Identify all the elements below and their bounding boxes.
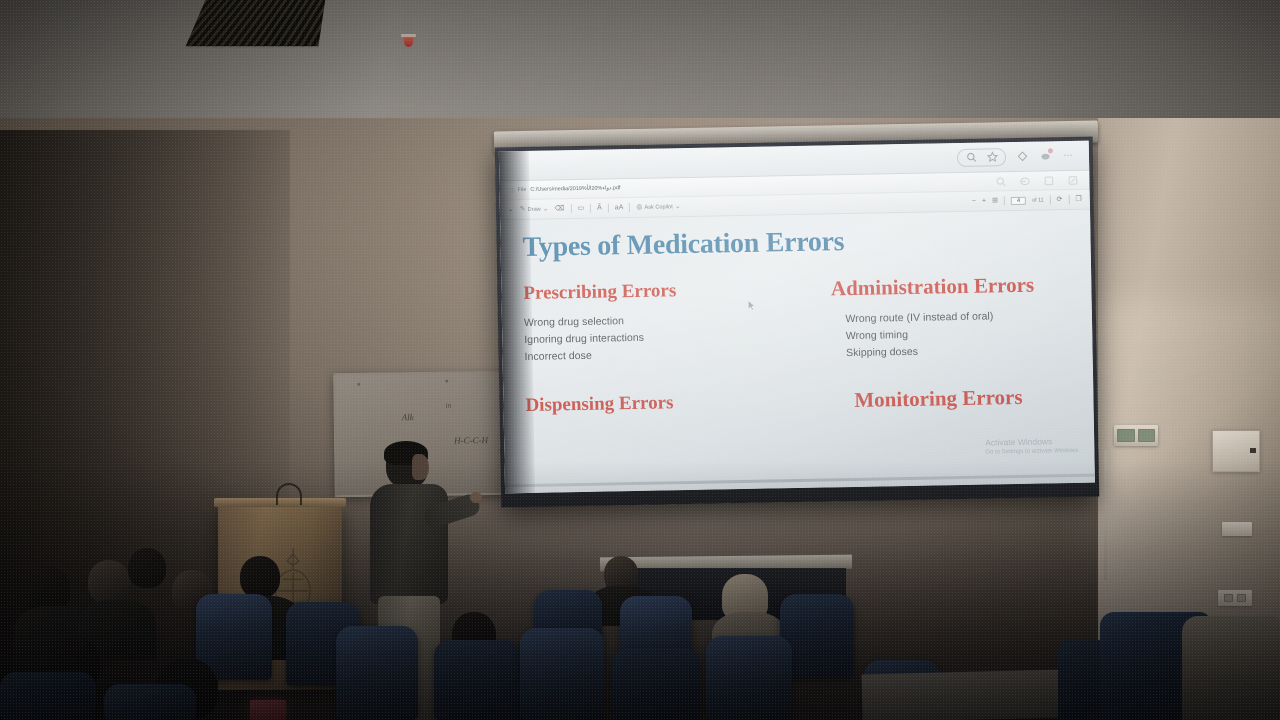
- more-options-icon[interactable]: ⋯: [1061, 148, 1075, 162]
- toolbar-divider-5: [1004, 196, 1005, 205]
- toolbar-divider-3: [608, 203, 609, 212]
- slide-top-columns: Prescribing Errors Wrong drug selection …: [523, 274, 1074, 368]
- favorite-star-icon[interactable]: [985, 150, 999, 164]
- draw-tool-label: Draw: [528, 206, 541, 212]
- rotate-icon[interactable]: ⟳: [1057, 196, 1063, 203]
- seat: [706, 636, 792, 720]
- address-url-text[interactable]: C:/Users/media/2019%دوﺍء%20الأ.pdf: [530, 185, 620, 193]
- administration-errors-list: Wrong route (IV instead of oral) Wrong t…: [831, 307, 1074, 362]
- outlet-socket-right: [1237, 594, 1246, 602]
- foreground-desk: [861, 670, 1062, 720]
- administration-errors-heading: Administration Errors: [831, 274, 1074, 299]
- power-outlet-plate: [1218, 590, 1252, 606]
- page-view-tool-icon[interactable]: ▭: [577, 205, 584, 212]
- annotate-icon[interactable]: [1065, 173, 1079, 187]
- projection-screen-frame: ⋯ ⓘ File C:/Users/media/2019%دوﺍء%20الأ.…: [495, 137, 1099, 508]
- list-item: Skipping doses: [832, 341, 1075, 362]
- thermostat-display-right: [1138, 429, 1156, 442]
- toolbar-spacer: [687, 201, 966, 206]
- attendee-phone-screen: [250, 700, 286, 720]
- toolbar-divider-1: [570, 204, 571, 213]
- dispensing-errors-heading: Dispensing Errors: [525, 391, 786, 415]
- draw-chevron-icon: ⌄: [543, 206, 549, 213]
- find-in-page-icon[interactable]: [993, 174, 1007, 188]
- read-aloud-icon[interactable]: [1017, 174, 1031, 188]
- browser-search-favorite-group: [957, 148, 1006, 167]
- ask-copilot-button[interactable]: ◍ Ask Copilot ⌄: [636, 203, 680, 211]
- wall-conduit: [1104, 450, 1107, 580]
- whiteboard-note-1: Alk: [402, 412, 414, 422]
- chevron-down-icon[interactable]: ⌄: [508, 206, 514, 213]
- attendee-head: [88, 560, 130, 604]
- monitoring-errors-section: Monitoring Errors: [812, 386, 1076, 424]
- page-total-label: of 11: [1032, 197, 1044, 203]
- electrical-box: [1212, 430, 1260, 472]
- zoom-in-button[interactable]: +: [982, 198, 986, 205]
- administration-errors-section: Administration Errors Wrong route (IV in…: [811, 274, 1075, 363]
- collections-icon[interactable]: [1015, 149, 1029, 163]
- presenter-face: [412, 454, 429, 480]
- lecture-hall-scene: Alk in H-C-C-H: [0, 0, 1280, 720]
- search-icon[interactable]: [964, 150, 978, 164]
- seat: [104, 684, 196, 720]
- monitoring-errors-heading: Monitoring Errors: [854, 386, 1075, 411]
- dispensing-errors-section: Dispensing Errors: [525, 391, 786, 429]
- whiteboard-magnet-right: [445, 380, 448, 383]
- text-size-tool-icon[interactable]: aA: [615, 204, 624, 211]
- ask-copilot-label: Ask Copilot: [644, 204, 672, 211]
- read-aloud-tool-icon[interactable]: A᷈: [597, 205, 602, 212]
- add-to-favorites-icon[interactable]: [1041, 173, 1055, 187]
- mouse-cursor-icon: [748, 299, 756, 311]
- watermark-line-1: Activate Windows: [985, 436, 1078, 448]
- copilot-icon[interactable]: [1038, 149, 1052, 163]
- prescribing-errors-list: Wrong drug selection Ignoring drug inter…: [524, 310, 786, 366]
- copilot-sparkle-icon: ◍: [636, 204, 642, 211]
- light-switch-plate[interactable]: [1222, 522, 1252, 536]
- pdf-slide-page: Types of Medication Errors Prescribing E…: [500, 210, 1095, 494]
- zoom-out-button[interactable]: −: [972, 198, 976, 205]
- toolbar-divider-7: [1068, 195, 1069, 204]
- eraser-tool-icon[interactable]: ⌫: [555, 205, 565, 212]
- seat: [0, 672, 96, 720]
- page-number-input[interactable]: 4: [1011, 196, 1026, 204]
- info-circle-icon: ⓘ: [509, 187, 514, 194]
- whiteboard-note-2: in: [446, 402, 452, 410]
- attendee-head: [128, 548, 166, 588]
- seat: [520, 628, 604, 720]
- seat: [336, 626, 418, 720]
- outlet-socket-left: [1224, 594, 1233, 602]
- toolbar-divider-2: [590, 204, 591, 213]
- address-bar-actions: [993, 173, 1079, 189]
- prescribing-errors-heading: Prescribing Errors: [523, 279, 785, 303]
- presenter-torso-hoodie: [370, 484, 448, 604]
- slide-bottom-columns: Dispensing Errors Monitoring Errors: [525, 386, 1076, 429]
- windows-activation-watermark: Activate Windows Go to Settings to activ…: [985, 436, 1078, 456]
- watermark-line-2: Go to Settings to activate Windows: [985, 446, 1078, 456]
- seat: [612, 648, 700, 720]
- fit-page-icon[interactable]: ⊞: [992, 197, 998, 204]
- microphone-gooseneck-icon: [276, 483, 302, 505]
- toolbar-divider-4: [629, 203, 630, 212]
- slide-title: Types of Medication Errors: [522, 224, 1072, 262]
- pen-icon: ✎: [520, 206, 526, 213]
- list-item: Incorrect dose: [524, 344, 786, 366]
- slide-footer-divider: [505, 474, 1095, 488]
- whiteboard-magnet-left: [357, 383, 360, 386]
- projection-screen-surface: ⋯ ⓘ File C:/Users/media/2019%دوﺍء%20الأ.…: [499, 141, 1095, 494]
- draw-tool-button[interactable]: ✎ Draw ⌄: [520, 206, 549, 214]
- thermostat-display-left: [1117, 429, 1135, 442]
- copilot-chevron-icon: ⌄: [675, 203, 681, 210]
- thermostat-panel[interactable]: [1114, 425, 1158, 446]
- attendee-head: [240, 556, 280, 598]
- presenter-hand: [470, 492, 482, 503]
- prescribing-errors-section: Prescribing Errors Wrong drug selection …: [523, 279, 786, 368]
- toolbar-divider-6: [1050, 195, 1051, 204]
- address-file-label: File: [517, 187, 526, 193]
- foreground-seat-cushion: [1182, 616, 1280, 720]
- seat: [434, 640, 520, 720]
- page-layout-icon[interactable]: ❐: [1075, 196, 1081, 203]
